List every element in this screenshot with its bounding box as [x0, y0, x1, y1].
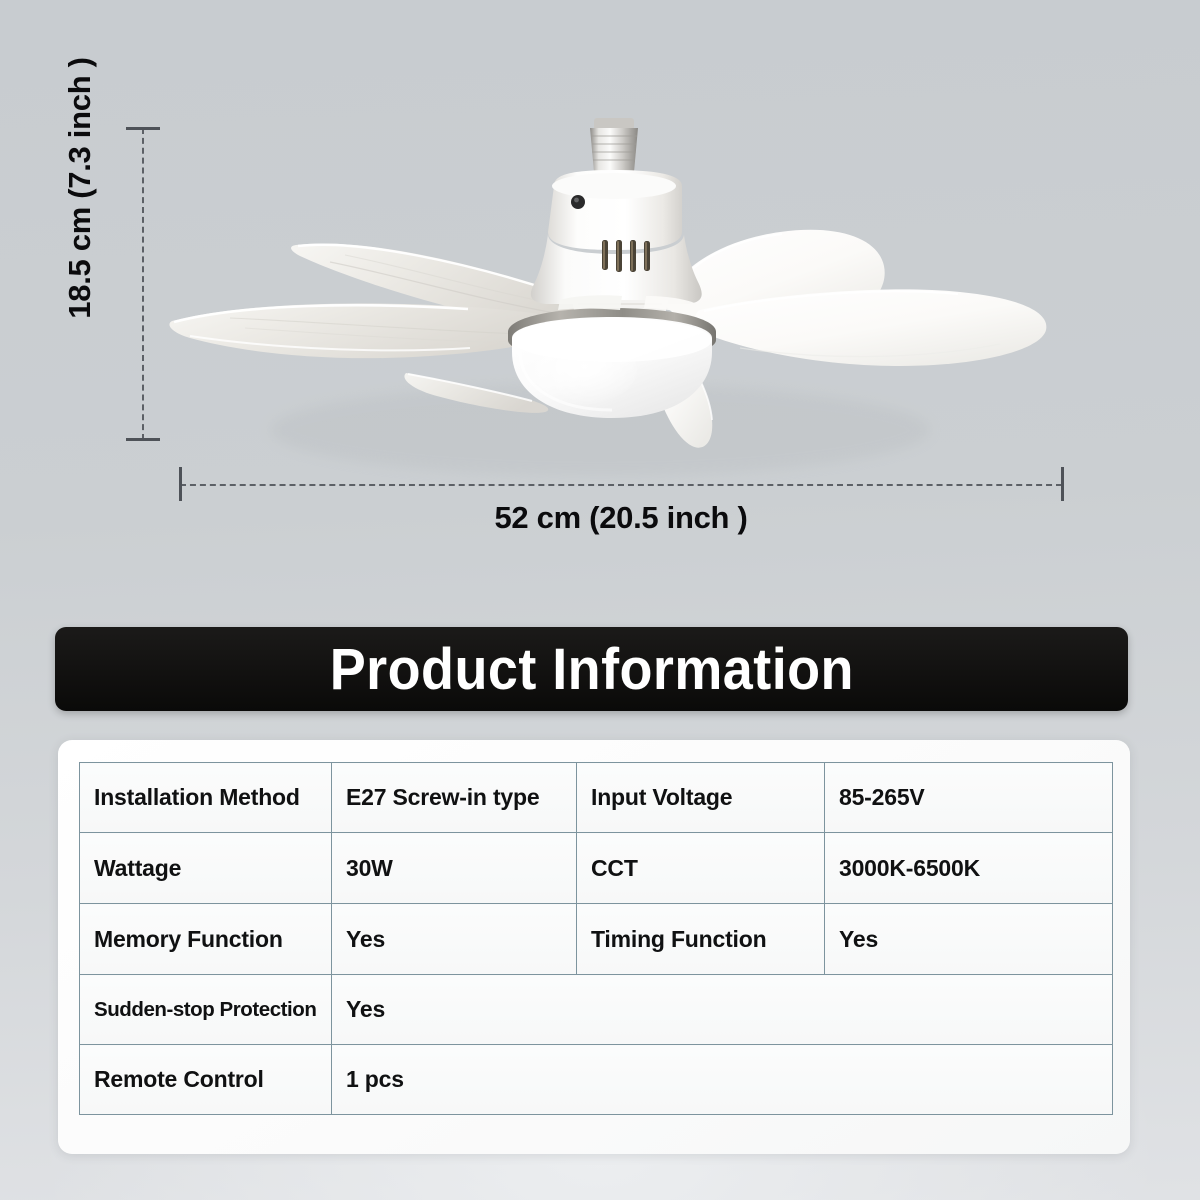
spec-label-remote-control: Remote Control: [80, 1045, 332, 1115]
table-row: Remote Control 1 pcs: [80, 1045, 1113, 1115]
spec-value-timing-function: Yes: [825, 904, 1113, 975]
spec-value-input-voltage: 85-265V: [825, 763, 1113, 833]
height-dimension-line: [142, 128, 144, 440]
product-hero-area: 18.5 cm (7.3 inch ) 52 cm (20.5 inch ): [0, 0, 1200, 600]
spec-label-wattage: Wattage: [80, 833, 332, 904]
spec-value-wattage: 30W: [332, 833, 577, 904]
table-row: Wattage 30W CCT 3000K-6500K: [80, 833, 1113, 904]
table-row: Installation Method E27 Screw-in type In…: [80, 763, 1113, 833]
spec-value-memory-function: Yes: [332, 904, 577, 975]
spec-value-sudden-stop-protection: Yes: [332, 975, 1113, 1045]
spec-label-memory-function: Memory Function: [80, 904, 332, 975]
spec-label-cct: CCT: [577, 833, 825, 904]
spec-label-timing-function: Timing Function: [577, 904, 825, 975]
fan-motor-housing: [548, 170, 682, 250]
spec-label-input-voltage: Input Voltage: [577, 763, 825, 833]
page-title: Product Information: [329, 636, 853, 703]
specification-table-body: Installation Method E27 Screw-in type In…: [80, 763, 1113, 1115]
height-dimension-cap-top: [126, 127, 160, 130]
product-information-banner: Product Information: [55, 627, 1128, 711]
spec-label-sudden-stop-protection: Sudden-stop Protection: [80, 975, 332, 1045]
ir-sensor-icon: [571, 195, 585, 209]
width-dimension-line: [180, 484, 1062, 486]
specification-card: Installation Method E27 Screw-in type In…: [58, 740, 1130, 1154]
width-dimension-label: 52 cm (20.5 inch ): [180, 500, 1062, 536]
table-row: Sudden-stop Protection Yes: [80, 975, 1113, 1045]
spec-label-installation-method: Installation Method: [80, 763, 332, 833]
width-dimension-cap-left: [179, 467, 182, 501]
specification-table: Installation Method E27 Screw-in type In…: [79, 762, 1113, 1115]
spec-value-installation-method: E27 Screw-in type: [332, 763, 577, 833]
table-row: Memory Function Yes Timing Function Yes: [80, 904, 1113, 975]
spec-value-cct: 3000K-6500K: [825, 833, 1113, 904]
height-dimension-cap-bottom: [126, 438, 160, 441]
height-dimension-label: 18.5 cm (7.3 inch ): [62, 48, 98, 328]
width-dimension-cap-right: [1061, 467, 1064, 501]
spec-value-remote-control: 1 pcs: [332, 1045, 1113, 1115]
